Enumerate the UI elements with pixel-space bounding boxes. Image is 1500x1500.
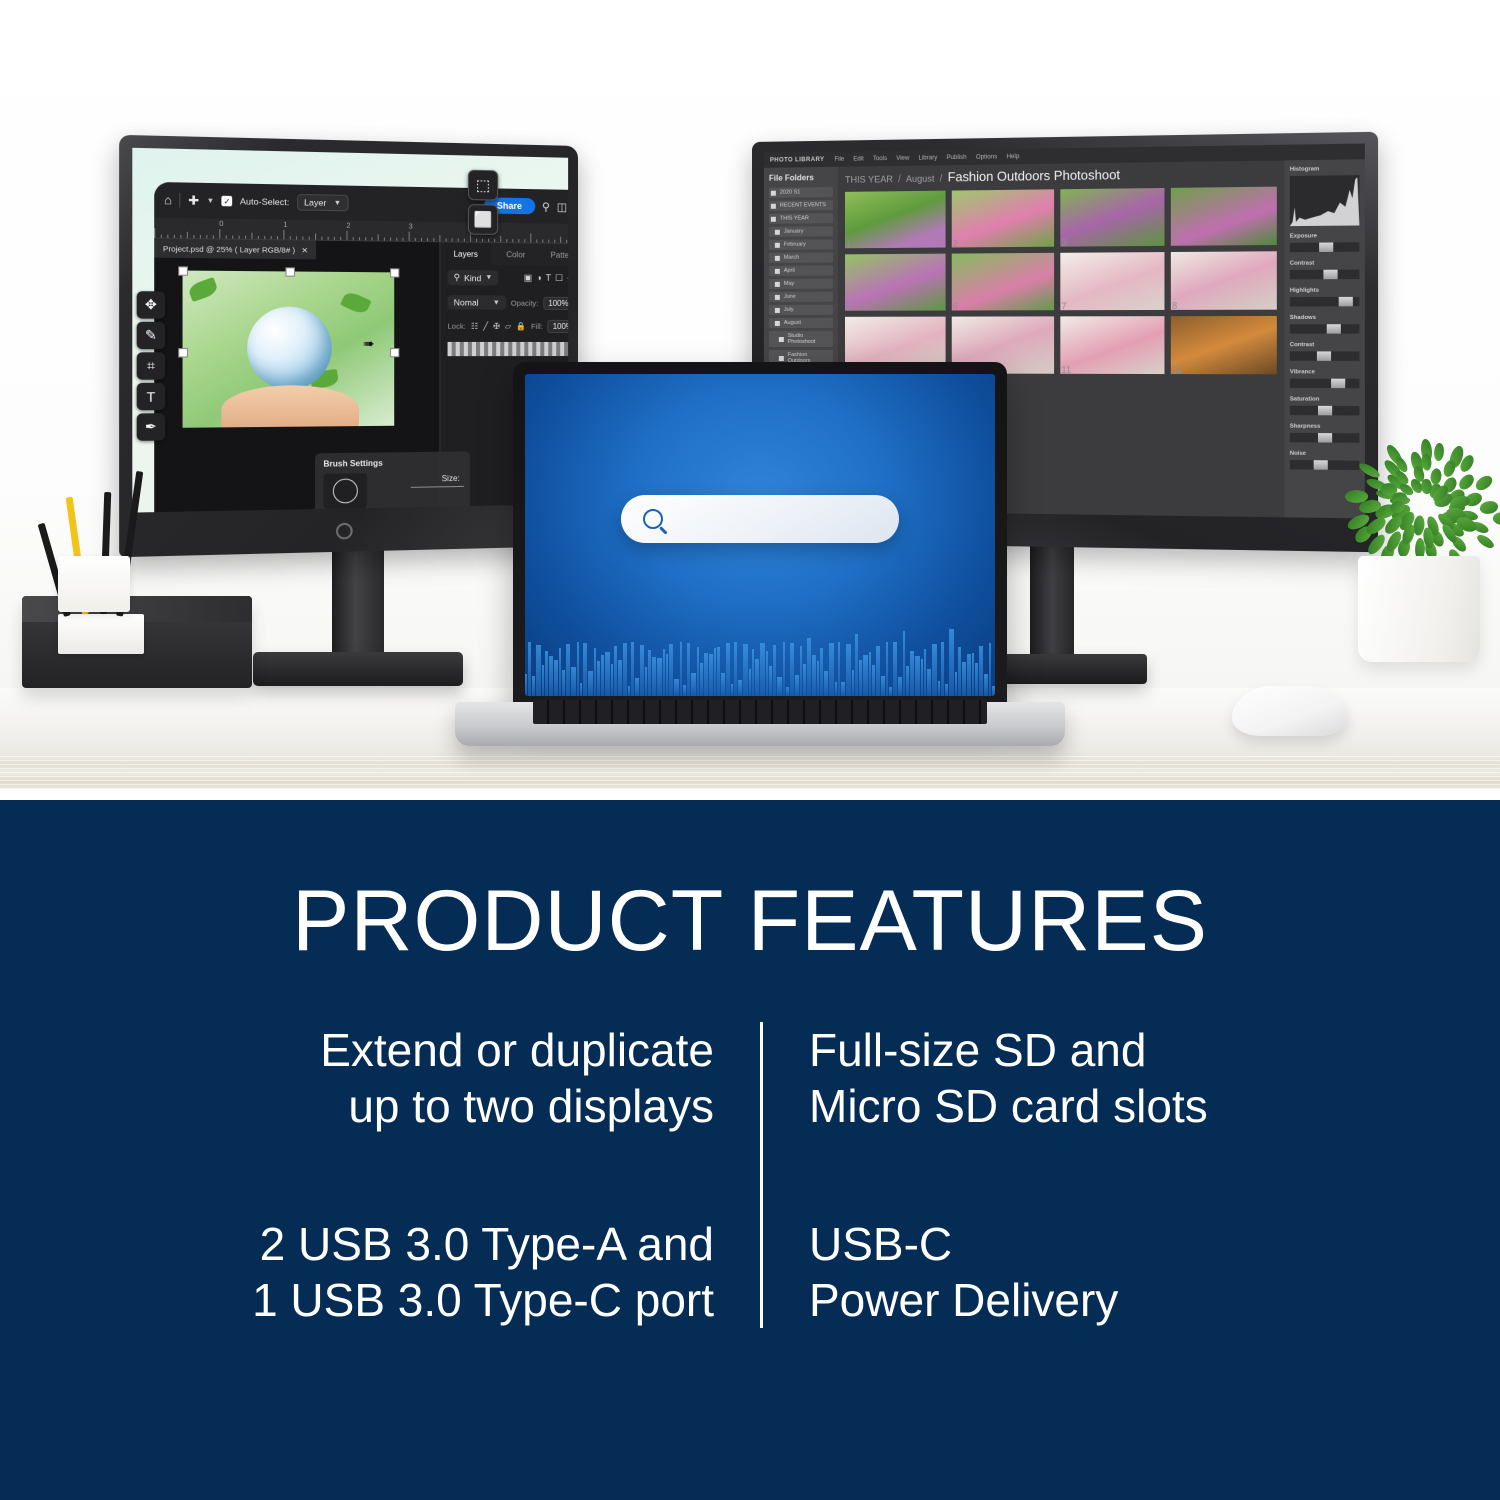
photo-thumbnail-cell[interactable]: 3 bbox=[1060, 188, 1164, 247]
tab-color[interactable]: Color bbox=[491, 243, 541, 266]
ruler-tick bbox=[290, 236, 291, 239]
photo-thumbnail-cell[interactable]: 6 bbox=[952, 253, 1054, 311]
photo-thumbnail-cell[interactable]: 1 bbox=[845, 191, 946, 249]
slider-track[interactable] bbox=[1290, 406, 1360, 416]
skyline-building bbox=[549, 656, 553, 696]
ruler-tick bbox=[421, 238, 422, 241]
blend-mode-value: Nomal bbox=[454, 297, 479, 307]
photoshop-canvas[interactable]: Project.psd @ 25% ( Layer RGB/8# ) ✕ bbox=[154, 239, 439, 513]
skyline-building bbox=[829, 643, 834, 696]
ruler-label: 0 bbox=[219, 221, 223, 228]
ruler-tick bbox=[239, 236, 240, 239]
layer-filter-label: Kind bbox=[464, 272, 481, 282]
tab-patterns[interactable]: Patterns bbox=[541, 244, 568, 267]
tab-layers[interactable]: Layers bbox=[440, 242, 490, 265]
ruler-tick bbox=[359, 237, 360, 240]
skyline-building bbox=[691, 673, 696, 696]
folder-icon bbox=[775, 307, 780, 312]
lock-label: Lock: bbox=[448, 322, 466, 331]
slider-track[interactable] bbox=[1290, 379, 1360, 389]
folder-list: 2020 S1RECENT EVENTSTHIS YEARJanuaryFebr… bbox=[769, 187, 833, 366]
skyline-building bbox=[979, 646, 983, 696]
lock-position-icon[interactable]: ✠ bbox=[493, 322, 500, 331]
chevron-down-icon[interactable]: ▼ bbox=[207, 197, 214, 204]
close-icon[interactable]: ✕ bbox=[301, 245, 308, 254]
slider-track[interactable] bbox=[1290, 297, 1360, 307]
skyline-building bbox=[898, 677, 903, 696]
skyline-building bbox=[663, 649, 665, 696]
ruler-tick bbox=[258, 236, 259, 239]
skyline-building bbox=[927, 669, 931, 696]
collection-title: Fashion Outdoors Photoshoot bbox=[948, 168, 1121, 185]
skyline-building bbox=[855, 634, 858, 696]
layer-filter-icons: ▣ ◑ T ☐ ⎒ ▯ bbox=[524, 273, 568, 285]
folder-item[interactable]: Studio Photoshoot bbox=[769, 331, 833, 347]
skyline-building bbox=[721, 673, 725, 696]
skyline-building bbox=[645, 667, 647, 696]
skyline-building bbox=[714, 648, 716, 696]
slider-knob[interactable] bbox=[1314, 460, 1328, 470]
thumbnail-number: 3 bbox=[1061, 237, 1066, 247]
photo-thumbnail[interactable] bbox=[1171, 187, 1277, 246]
left-monitor-stand-neck bbox=[332, 538, 384, 658]
ruler-tick bbox=[396, 238, 397, 241]
leaf-decoration bbox=[187, 277, 219, 302]
ruler-tick bbox=[206, 235, 207, 238]
breadcrumb-separator: / bbox=[898, 174, 901, 185]
product-features-section: PRODUCT FEATURES Extend or duplicate up … bbox=[0, 800, 1500, 1500]
thumbnail-number: 7 bbox=[1061, 301, 1066, 311]
ruler-tick bbox=[476, 239, 477, 242]
slider-knob[interactable] bbox=[1317, 351, 1331, 360]
fill-value[interactable]: 100% bbox=[548, 320, 568, 333]
thumbnail-number: 6 bbox=[953, 301, 958, 311]
photo-thumbnail-cell[interactable]: 4 bbox=[1171, 187, 1277, 246]
skyline-building bbox=[666, 654, 669, 696]
slider-track[interactable] bbox=[1290, 270, 1360, 280]
photoshop-tool-strip: ✥✎⌗T✒ bbox=[137, 291, 168, 444]
menu-item[interactable]: Help bbox=[1007, 154, 1020, 160]
folder-icon bbox=[775, 268, 780, 273]
features-column-right: Full-size SD and Micro SD card slots USB… bbox=[760, 1022, 1410, 1328]
laptop-screen bbox=[525, 374, 995, 696]
adjustment-slider-group: Contrast bbox=[1290, 260, 1360, 279]
photo-thumbnail[interactable] bbox=[1060, 316, 1164, 374]
skyline-building bbox=[731, 684, 733, 696]
skyline-building bbox=[532, 676, 536, 696]
plant-leaf bbox=[1474, 474, 1495, 492]
layer-filter-kind[interactable]: ⚲ Kind ▼ bbox=[448, 270, 499, 286]
menu-item[interactable]: Options bbox=[976, 154, 997, 160]
lock-transparent-icon[interactable]: ☷ bbox=[471, 322, 478, 331]
features-column-left: Extend or duplicate up to two displays 2… bbox=[110, 1022, 760, 1328]
skyline-building bbox=[583, 643, 587, 696]
laptop-keyboard[interactable] bbox=[533, 700, 987, 724]
skyline-building bbox=[824, 671, 828, 696]
skyline-building bbox=[841, 682, 845, 696]
skyline-building bbox=[876, 646, 880, 696]
skyline-building bbox=[945, 684, 949, 696]
chevron-down-icon: ▼ bbox=[485, 274, 492, 281]
skyline-building bbox=[783, 642, 785, 696]
feature-line: Power Delivery bbox=[809, 1272, 1364, 1328]
chevron-down-icon: ▼ bbox=[334, 199, 341, 206]
skyline-building bbox=[611, 664, 613, 696]
ruler-tick bbox=[309, 237, 310, 240]
lock-artboard-icon[interactable]: ▱ bbox=[505, 322, 511, 331]
ruler-tick bbox=[500, 236, 501, 242]
slider-knob[interactable] bbox=[1326, 324, 1340, 333]
adjustment-slider-group: Contrast bbox=[1290, 342, 1360, 361]
folder-label: July bbox=[784, 307, 794, 313]
photo-thumbnail[interactable] bbox=[845, 254, 946, 311]
type-tool-icon[interactable]: T bbox=[137, 383, 165, 411]
photo-thumbnail-cell[interactable]: 2 bbox=[952, 189, 1054, 247]
skyline-building bbox=[807, 638, 811, 696]
move-tool-icon[interactable]: ✥ bbox=[137, 291, 165, 318]
ruler-tick bbox=[488, 239, 489, 242]
ruler-tick bbox=[524, 239, 525, 242]
blend-mode-select[interactable]: Nomal ▼ bbox=[448, 295, 506, 309]
ruler-tick bbox=[174, 235, 175, 238]
slider-label: Highlights bbox=[1290, 287, 1360, 294]
folder-item[interactable]: May bbox=[769, 279, 833, 289]
skyline-building bbox=[545, 651, 548, 696]
feature-line: up to two displays bbox=[156, 1078, 714, 1134]
skyline-building bbox=[886, 642, 888, 696]
opacity-value[interactable]: 100% bbox=[543, 296, 568, 309]
document-tab-label: Project.psd @ 25% ( Layer RGB/8# ) bbox=[163, 244, 295, 255]
skyline-building bbox=[924, 649, 927, 696]
ruler-tick bbox=[232, 236, 233, 239]
feature-line: Full-size SD and bbox=[809, 1022, 1364, 1078]
ruler-tick bbox=[353, 237, 354, 240]
ruler-tick bbox=[536, 239, 537, 242]
features-grid: Extend or duplicate up to two displays 2… bbox=[110, 1022, 1410, 1328]
skyline-building bbox=[949, 629, 954, 696]
skyline-building bbox=[903, 631, 905, 696]
skyline-building bbox=[786, 687, 789, 696]
folder-item[interactable]: March bbox=[769, 252, 833, 262]
lock-icons: ☷ ╱ ✠ ▱ 🔒 bbox=[471, 322, 526, 331]
photo-thumbnail-cell[interactable]: 7 bbox=[1060, 252, 1164, 310]
folder-item[interactable]: February bbox=[769, 239, 833, 250]
photo-thumbnail[interactable] bbox=[1060, 188, 1164, 247]
folder-icon bbox=[771, 190, 776, 195]
transform-handle[interactable] bbox=[178, 348, 188, 357]
artboard-icon[interactable]: ⬜ bbox=[468, 204, 498, 235]
histogram-label: Histogram bbox=[1290, 166, 1360, 173]
search-icon: ⚲ bbox=[454, 272, 460, 283]
skyline-building bbox=[687, 643, 691, 696]
folder-icon bbox=[775, 294, 780, 299]
crop-tool-icon[interactable]: ⌗ bbox=[137, 352, 165, 379]
menu-item[interactable]: Edit bbox=[853, 156, 863, 162]
ruler-tick bbox=[277, 236, 278, 239]
folder-icon bbox=[771, 216, 776, 221]
ruler-label: 3 bbox=[409, 224, 413, 231]
thumbnail-number: 4 bbox=[1172, 236, 1177, 246]
menu-item[interactable]: View bbox=[896, 156, 909, 162]
desk-scene-photo: ⌂ ✚ ▼ ✓ Auto-Select: Layer ▼ Share ⚲ ◫ bbox=[0, 0, 1500, 800]
ruler-tick bbox=[340, 237, 341, 240]
slider-label: Contrast bbox=[1290, 260, 1360, 267]
adjustment-slider-group: Vibrance bbox=[1290, 369, 1360, 388]
ruler-tick bbox=[321, 237, 322, 240]
skyline-building bbox=[958, 647, 961, 696]
ruler-tick bbox=[446, 238, 447, 241]
folder-icon bbox=[779, 356, 784, 361]
folder-item[interactable]: July bbox=[769, 305, 833, 315]
layer-scope-select[interactable]: Layer ▼ bbox=[297, 194, 349, 211]
photo-thumbnail-cell[interactable]: 12 bbox=[1171, 316, 1277, 374]
slider-track[interactable] bbox=[1290, 242, 1360, 252]
document-tab[interactable]: Project.psd @ 25% ( Layer RGB/8# ) ✕ bbox=[154, 239, 316, 260]
brush-angle-dial[interactable] bbox=[323, 473, 367, 509]
folder-item[interactable]: January bbox=[769, 226, 833, 237]
auto-select-label: Auto-Select: bbox=[240, 196, 289, 207]
ruler-tick bbox=[566, 240, 567, 243]
transform-handle[interactable] bbox=[390, 268, 399, 277]
photo-thumbnail-cell[interactable]: 5 bbox=[845, 254, 946, 311]
image-filter-icon[interactable]: ▣ bbox=[524, 273, 533, 284]
folder-label: Studio Photoshoot bbox=[788, 333, 830, 345]
type-filter-icon[interactable]: T bbox=[546, 273, 551, 284]
layer-scope-value: Layer bbox=[304, 197, 326, 208]
desk-front-edge bbox=[0, 756, 1500, 790]
folder-item[interactable]: RECENT EVENTS bbox=[769, 200, 833, 211]
skyline-building bbox=[989, 643, 991, 696]
photo-thumbnail[interactable] bbox=[845, 191, 946, 249]
skyline-building bbox=[669, 644, 673, 696]
skyline-building bbox=[800, 646, 802, 696]
page-title: PRODUCT FEATURES bbox=[0, 800, 1500, 964]
ruler-tick bbox=[315, 234, 316, 240]
folder-item[interactable]: August bbox=[769, 318, 833, 328]
skyline-building bbox=[726, 643, 731, 696]
folder-item[interactable]: April bbox=[769, 265, 833, 275]
skyline-building bbox=[915, 656, 920, 696]
photo-thumbnail-cell[interactable]: 11 bbox=[1060, 316, 1164, 374]
skyline-building bbox=[773, 645, 777, 696]
slider-knob[interactable] bbox=[1324, 270, 1338, 280]
transform-handle[interactable] bbox=[178, 266, 188, 276]
skyline-building bbox=[838, 642, 841, 696]
slider-label: Shadows bbox=[1290, 315, 1360, 321]
slider-label: Contrast bbox=[1290, 342, 1360, 348]
slider-knob[interactable] bbox=[1318, 406, 1332, 415]
smartobject-filter-icon[interactable]: ⎒ bbox=[567, 273, 568, 284]
arrange-documents-icon[interactable]: ◫ bbox=[557, 200, 567, 213]
breadcrumb-separator: / bbox=[940, 173, 943, 184]
slider-label: Exposure bbox=[1290, 233, 1360, 240]
thumbnail-number: 12 bbox=[1172, 365, 1183, 375]
ruler-tick bbox=[296, 236, 297, 239]
computer-mouse[interactable] bbox=[1232, 686, 1348, 736]
photoshop-floating-tools: ⬚⬜ bbox=[468, 170, 500, 239]
slider-knob[interactable] bbox=[1318, 433, 1332, 443]
skyline-building bbox=[769, 666, 772, 696]
skyline-building bbox=[967, 654, 972, 696]
skyline-building bbox=[631, 642, 634, 696]
photo-thumbnail-grid: 123456789101112 bbox=[845, 187, 1277, 375]
folder-item[interactable]: 2020 S1 bbox=[769, 187, 833, 198]
plant-leaf bbox=[1432, 442, 1446, 462]
menu-item[interactable]: Library bbox=[918, 155, 937, 161]
menu-item[interactable]: File bbox=[834, 157, 844, 163]
adjustment-slider-group: Highlights bbox=[1290, 287, 1360, 306]
menu-item[interactable]: Tools bbox=[873, 156, 887, 162]
search-input[interactable] bbox=[621, 495, 899, 543]
breadcrumb-level2[interactable]: August bbox=[906, 174, 935, 185]
plant-leaf bbox=[1480, 500, 1499, 514]
skyline-building bbox=[652, 657, 656, 696]
ruler-tick bbox=[200, 235, 201, 238]
shape-filter-icon[interactable]: ☐ bbox=[555, 273, 563, 284]
folder-label: June bbox=[784, 294, 796, 300]
skyline-building bbox=[618, 660, 622, 696]
skyline-building bbox=[704, 653, 708, 696]
home-icon[interactable]: ⌂ bbox=[164, 193, 172, 208]
laptop-lid bbox=[513, 362, 1007, 710]
skyline-building bbox=[594, 648, 596, 696]
skyline-building bbox=[562, 670, 565, 696]
ruler-tick bbox=[378, 234, 379, 240]
skyline-building bbox=[628, 686, 630, 696]
folder-icon bbox=[775, 255, 780, 260]
sidebar-title: File Folders bbox=[769, 173, 833, 183]
skyline-building bbox=[571, 667, 576, 696]
lock-row: Lock: ☷ ╱ ✠ ▱ 🔒 Fill: 100% bbox=[440, 314, 568, 338]
skyline-building bbox=[790, 643, 794, 696]
slider-track[interactable] bbox=[1290, 351, 1360, 360]
skyline-building bbox=[738, 680, 742, 696]
photo-thumbnail[interactable] bbox=[1171, 251, 1277, 310]
photo-thumbnail[interactable] bbox=[952, 189, 1054, 247]
skyline-building bbox=[962, 662, 966, 696]
folder-label: 2020 S1 bbox=[780, 189, 800, 195]
skyline-building bbox=[680, 642, 682, 696]
thumbnail-number: 1 bbox=[846, 239, 851, 249]
ruler-tick bbox=[494, 239, 495, 242]
breadcrumb: THIS YEAR / August / Fashion Outdoors Ph… bbox=[845, 166, 1277, 186]
feature-item: Full-size SD and Micro SD card slots bbox=[809, 1022, 1364, 1134]
folder-item[interactable]: June bbox=[769, 292, 833, 302]
ruler-tick bbox=[458, 238, 459, 241]
skyline-building bbox=[635, 678, 639, 696]
menu-item[interactable]: Publish bbox=[946, 155, 966, 161]
move-tool-icon[interactable]: ✚ bbox=[188, 193, 199, 208]
slider-label: Saturation bbox=[1290, 396, 1360, 403]
skyline-building bbox=[835, 682, 837, 696]
plant-pot bbox=[1358, 556, 1480, 662]
skyline-building bbox=[588, 671, 593, 696]
organizer-card bbox=[58, 614, 144, 654]
ruler-tick bbox=[302, 236, 303, 239]
feature-line: 2 USB 3.0 Type-A and bbox=[156, 1216, 714, 1272]
lock-image-icon[interactable]: ╱ bbox=[483, 322, 488, 331]
photo-thumbnail-cell[interactable]: 8 bbox=[1171, 251, 1277, 310]
folder-icon bbox=[775, 242, 780, 247]
skyline-building bbox=[972, 653, 974, 696]
ruler-tick bbox=[433, 238, 434, 241]
ruler-tick bbox=[251, 233, 252, 239]
photo-thumbnail[interactable] bbox=[1060, 252, 1164, 310]
slider-knob[interactable] bbox=[1339, 297, 1353, 306]
ruler-tick bbox=[167, 235, 168, 238]
ruler-tick bbox=[334, 237, 335, 240]
skyline-building bbox=[559, 648, 561, 696]
search-icon bbox=[643, 509, 663, 529]
skyline-building bbox=[697, 647, 699, 696]
slider-knob[interactable] bbox=[1331, 379, 1345, 388]
folder-icon bbox=[771, 203, 776, 208]
folder-label: April bbox=[784, 268, 795, 274]
skyline-building bbox=[955, 672, 957, 696]
skyline-building bbox=[941, 642, 944, 696]
photo-thumbnail[interactable] bbox=[952, 253, 1054, 311]
lock-all-icon[interactable]: 🔒 bbox=[516, 322, 526, 331]
skyline-building bbox=[872, 665, 875, 696]
skyline-building bbox=[910, 651, 914, 696]
skyline-building bbox=[863, 655, 868, 696]
skyline-building bbox=[614, 646, 617, 696]
skyline-building bbox=[817, 661, 819, 696]
slider-knob[interactable] bbox=[1319, 242, 1333, 252]
brush-tool-icon[interactable]: ✎ bbox=[137, 322, 165, 349]
ruler-tick bbox=[409, 232, 410, 241]
ruler-tick bbox=[346, 231, 347, 240]
ruler-tick bbox=[439, 235, 440, 241]
globe-graphic bbox=[247, 306, 332, 389]
leaf-decoration bbox=[340, 290, 372, 316]
pen-tool-icon[interactable]: ✒ bbox=[137, 413, 165, 441]
layer-filter-row: ⚲ Kind ▼ ▣ ◑ T ☐ ⎒ ▯ bbox=[440, 265, 568, 291]
slider-track[interactable] bbox=[1290, 324, 1360, 333]
photo-thumbnail[interactable] bbox=[1171, 316, 1277, 374]
auto-select-checkbox[interactable]: ✓ bbox=[222, 196, 233, 207]
ruler-tick bbox=[154, 228, 155, 237]
breadcrumb-level1[interactable]: THIS YEAR bbox=[845, 174, 893, 185]
adjustment-slider-group: Shadows bbox=[1290, 315, 1360, 334]
hand-graphic bbox=[221, 385, 359, 428]
rectangular-marquee-icon[interactable]: ⬚ bbox=[468, 170, 498, 201]
skyline-building bbox=[623, 643, 628, 696]
transform-handle[interactable] bbox=[390, 348, 399, 357]
search-icon[interactable]: ⚲ bbox=[542, 200, 550, 213]
skyline-building bbox=[921, 659, 923, 696]
feature-line: Extend or duplicate bbox=[156, 1022, 714, 1078]
ruler-tick bbox=[365, 237, 366, 240]
folder-item[interactable]: THIS YEAR bbox=[769, 213, 833, 224]
ruler-tick bbox=[415, 238, 416, 241]
folder-label: May bbox=[784, 281, 794, 287]
ruler-tick bbox=[187, 232, 188, 238]
ruler-tick bbox=[482, 239, 483, 242]
transform-handle[interactable] bbox=[285, 267, 295, 276]
skyline-building bbox=[760, 643, 765, 696]
skyline-building bbox=[992, 686, 995, 696]
panel-tab-strip: Layers Color Patterns bbox=[440, 242, 568, 266]
adjustment-filter-icon[interactable]: ◑ bbox=[536, 273, 541, 284]
brush-angle-circle bbox=[333, 478, 358, 503]
layer-thumbnail[interactable] bbox=[448, 342, 569, 356]
skyline-building bbox=[795, 675, 800, 696]
thumbnail-number: 8 bbox=[1172, 301, 1177, 311]
feature-item: 2 USB 3.0 Type-A and 1 USB 3.0 Type-C po… bbox=[156, 1216, 714, 1328]
adjustment-slider-group: Exposure bbox=[1290, 233, 1360, 252]
left-monitor-stand-base bbox=[253, 652, 463, 686]
